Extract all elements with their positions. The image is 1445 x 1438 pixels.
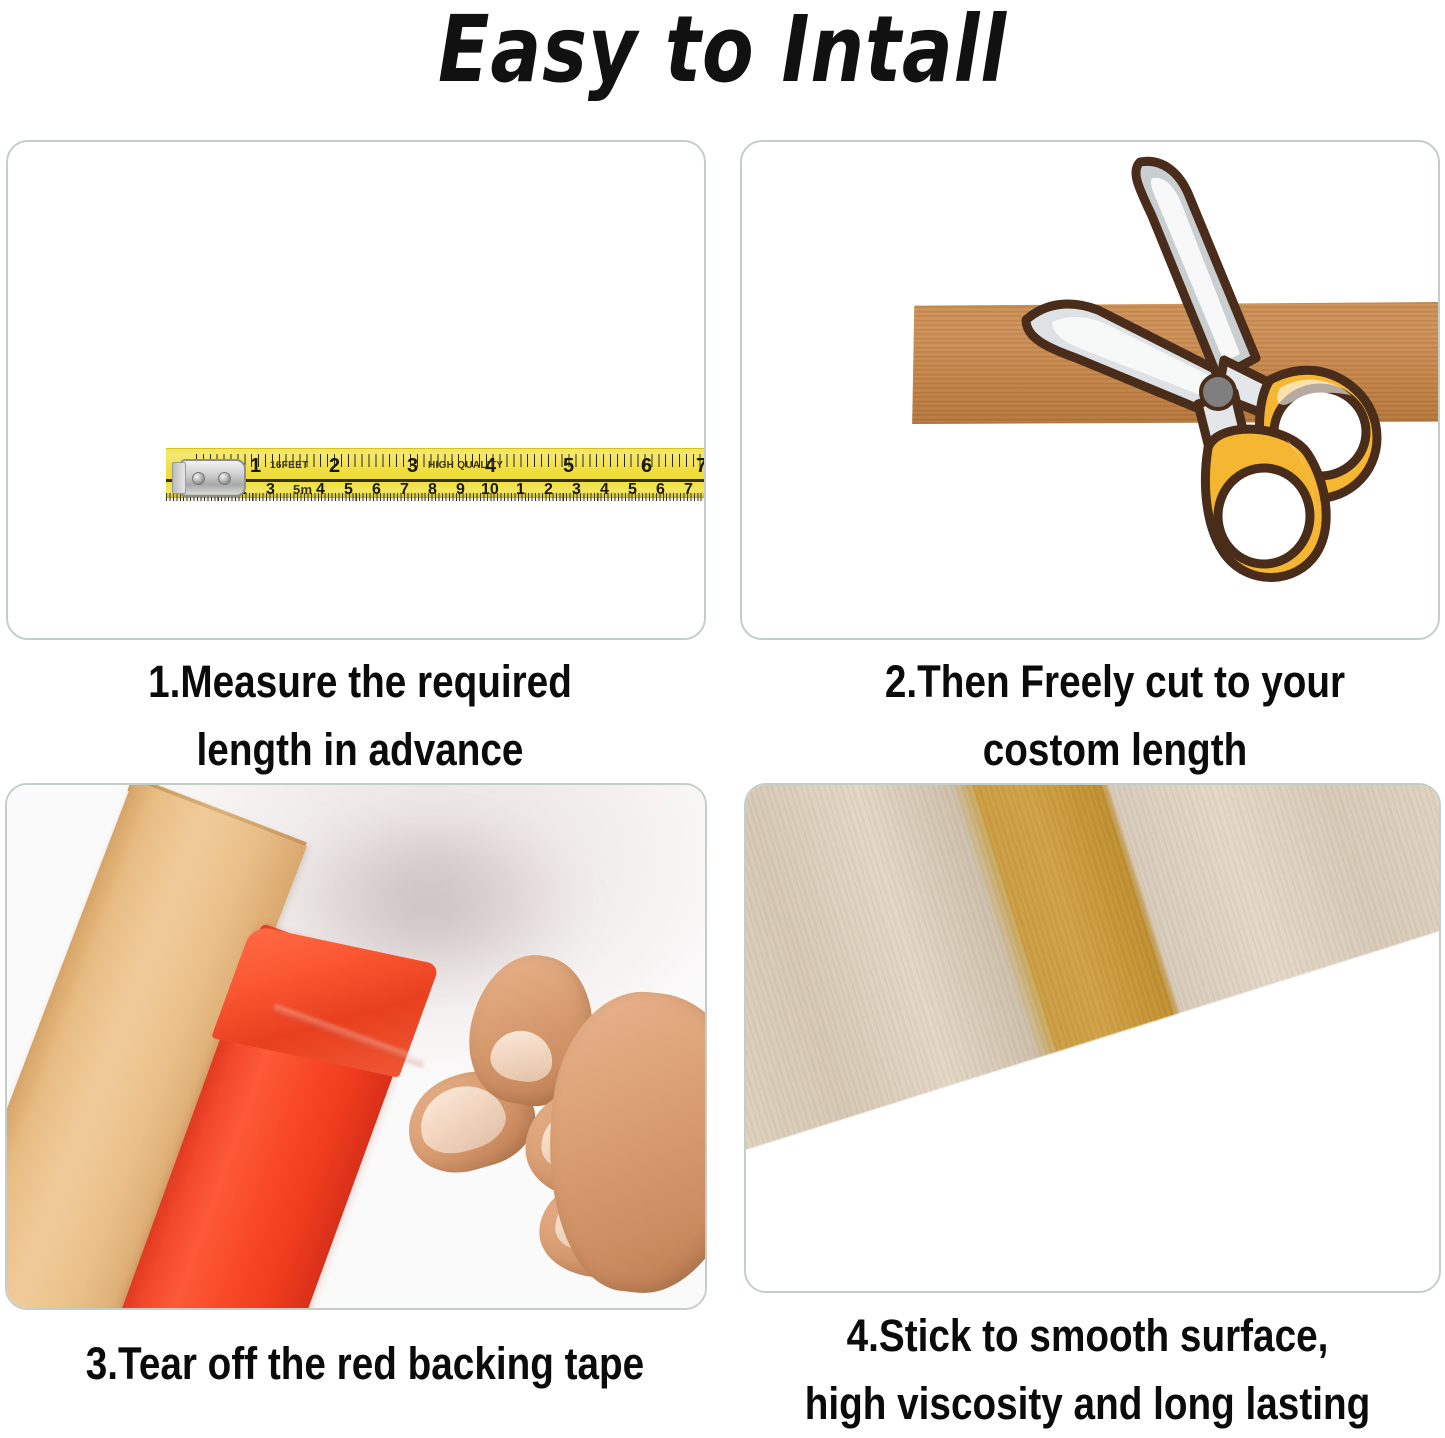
- hook-rivet-icon: [192, 472, 205, 485]
- hand-peeling-tape: [399, 935, 707, 1310]
- tape-inch-label: 5: [563, 456, 574, 476]
- scissor-handle-lower-hole: [1218, 468, 1310, 564]
- step-4-image-panel: [744, 783, 1441, 1293]
- scissors-icon: [1012, 152, 1432, 632]
- step-1-image-panel: 1 2 3 4 5 6 7 16FEET HIGH QUALITY 5m 2 3…: [6, 140, 706, 640]
- tape-inch-label: 1: [250, 456, 261, 476]
- tape-measure-image: 1 2 3 4 5 6 7 16FEET HIGH QUALITY 5m 2 3…: [166, 444, 706, 500]
- tape-inch-label: 6: [641, 456, 652, 476]
- tape-inch-label: 2: [329, 456, 340, 476]
- wood-trim-strip-image: [176, 320, 706, 440]
- tape-inch-label: 3: [407, 456, 418, 476]
- step-3-image-panel: [5, 783, 707, 1310]
- scissor-pivot-icon: [1201, 375, 1235, 409]
- step-4-caption: 4.Stick to smooth surface, high viscosit…: [780, 1302, 1395, 1438]
- hook-rivet-icon: [218, 472, 231, 485]
- page-title: Easy to Intall: [130, 4, 1315, 96]
- step-3-caption: 3.Tear off the red backing tape: [51, 1330, 679, 1398]
- tape-brand-label: 16FEET: [270, 461, 308, 471]
- tape-hook-tab: [172, 462, 186, 494]
- step-2-image-panel: [740, 140, 1440, 640]
- panel4-white-fill: [746, 785, 1439, 1291]
- tape-blade: 1 2 3 4 5 6 7 16FEET HIGH QUALITY 5m 2 3…: [166, 448, 706, 498]
- tape-quality-label: HIGH QUALITY: [428, 461, 503, 471]
- step-2-caption: 2.Then Freely cut to your costom length: [836, 648, 1395, 784]
- tape-hook-clip: [180, 459, 246, 497]
- step-1-caption: 1.Measure the required length in advance: [85, 648, 635, 784]
- tape-inch-label: 7: [696, 456, 706, 476]
- tape-shadow: [166, 494, 706, 502]
